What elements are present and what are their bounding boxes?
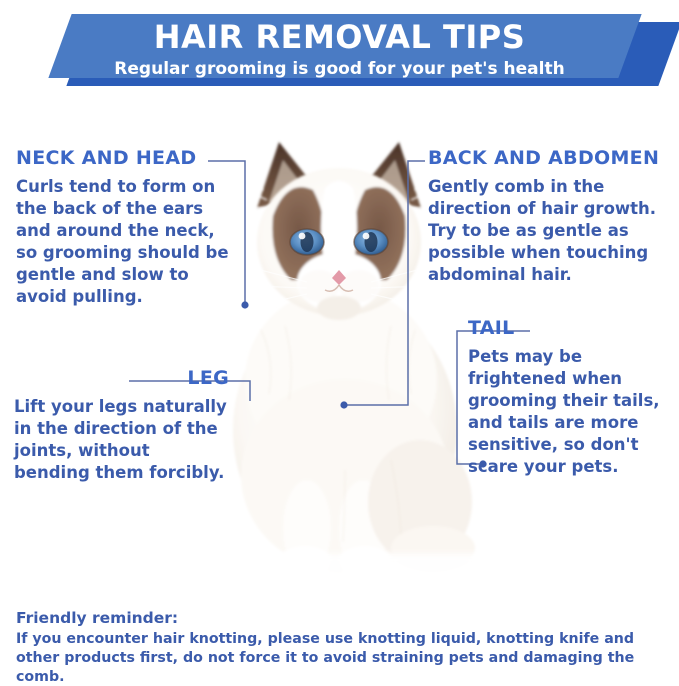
callout-title-back-and-abdomen: BACK AND ABDOMEN [428, 148, 673, 169]
friendly-reminder-body: If you encounter hair knotting, please u… [16, 630, 666, 686]
callout-title-leg: LEG [14, 368, 229, 389]
friendly-reminder: Friendly reminder: If you encounter hair… [16, 608, 666, 686]
callout-body-tail: Pets may be frightened when grooming the… [468, 346, 676, 478]
callout-body-neck-and-head: Curls tend to form on the back of the ea… [16, 176, 231, 308]
banner-front-layer [48, 14, 641, 78]
header-banner: HAIR REMOVAL TIPS Regular grooming is go… [0, 0, 679, 100]
callout-title-neck-and-head: NECK AND HEAD [16, 148, 231, 169]
friendly-reminder-title: Friendly reminder: [16, 608, 666, 628]
callout-body-leg: Lift your legs naturally in the directio… [14, 396, 229, 484]
callout-leg: LEG Lift your legs naturally in the dire… [14, 368, 229, 484]
callout-title-tail: TAIL [468, 318, 676, 339]
callout-back-and-abdomen: BACK AND ABDOMEN Gently comb in the dire… [428, 148, 673, 286]
callout-neck-and-head: NECK AND HEAD Curls tend to form on the … [16, 148, 231, 308]
callout-tail: TAIL Pets may be frightened when groomin… [468, 318, 676, 478]
callout-body-back-and-abdomen: Gently comb in the direction of hair gro… [428, 176, 673, 286]
